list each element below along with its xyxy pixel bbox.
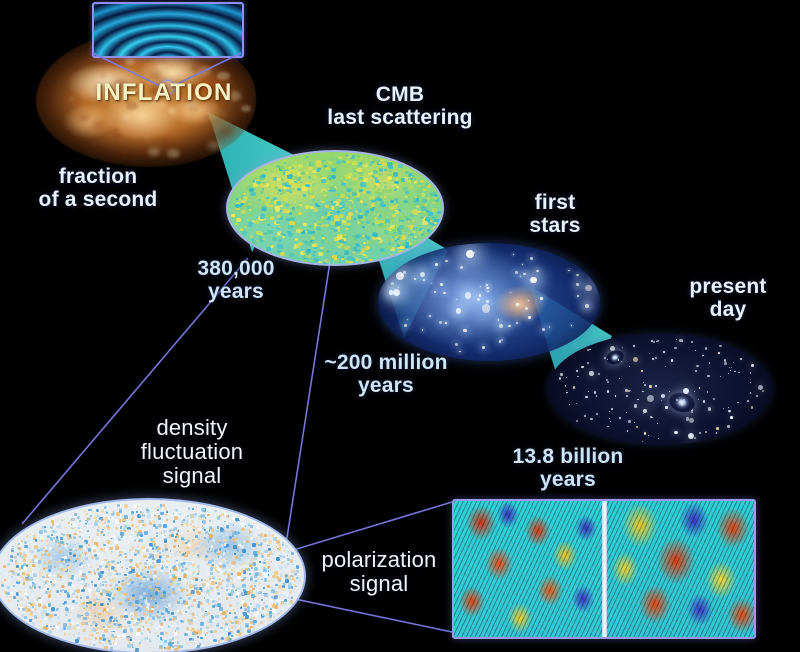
cmb-pixel [61, 533, 63, 535]
galaxy [559, 377, 562, 380]
cmb-pixel [48, 594, 51, 597]
cmb-pixel [39, 586, 41, 588]
cmb-speckle [360, 251, 365, 255]
star [571, 325, 572, 326]
cmb-speckle [333, 162, 336, 165]
cmb-pixel [85, 612, 89, 616]
cmb-pixel [129, 535, 132, 538]
galaxy [707, 375, 710, 378]
cmb-pixel [107, 527, 110, 530]
cmb-pixel [180, 620, 182, 622]
polarization-signal-inset[interactable] [452, 499, 756, 639]
cmb-pixel [130, 561, 132, 563]
cmb-pixel [38, 603, 42, 607]
cmb-speckle [303, 158, 306, 161]
cmb-pixel [105, 548, 108, 551]
cmb-pixel [52, 549, 54, 551]
cmb-pixel [153, 539, 155, 541]
cmb-pixel [244, 608, 247, 611]
cmb-pixel [56, 549, 58, 551]
cmb-pixel [183, 547, 185, 549]
galaxy [643, 409, 647, 413]
star [499, 324, 503, 328]
cmb-pixel [251, 558, 254, 561]
cmb-speckle [379, 214, 381, 216]
cmb-pixel [185, 611, 187, 613]
cmb-pixel [197, 594, 199, 596]
cmb-pixel [46, 617, 48, 619]
galaxy [671, 359, 674, 362]
cmb-speckle [417, 241, 421, 244]
cmb-pixel [32, 533, 34, 535]
cmb-pixel [38, 560, 41, 563]
cmb-pixel [28, 592, 30, 594]
cmb-pixel [110, 647, 113, 650]
cmb-pixel [34, 613, 36, 615]
cmb-pixel [65, 614, 68, 617]
cmb-pixel [175, 536, 177, 538]
cmb-pixel [181, 589, 183, 591]
cmb-pixel [109, 617, 113, 621]
cmb-pixel [89, 551, 93, 555]
cmb-speckle [343, 161, 346, 164]
cmb-speckle [312, 184, 315, 187]
cmb-pixel [156, 563, 160, 567]
galaxy [724, 362, 727, 365]
galaxy [607, 381, 609, 383]
galaxy [699, 432, 701, 434]
star [422, 329, 424, 331]
cosmic-history-diagram: INFLATION CMB last scattering first star… [0, 0, 800, 652]
cmb-speckle [324, 215, 328, 218]
cmb-pixel [185, 519, 189, 523]
cmb-speckle [418, 231, 422, 234]
galaxy [737, 402, 739, 404]
cmb-pixel [177, 601, 180, 604]
cmb-speckle [295, 223, 300, 227]
cmb-speckle [307, 249, 310, 251]
cmb-pixel [224, 521, 226, 523]
cmb-pixel [268, 535, 270, 537]
cmb-pixel [146, 560, 148, 562]
cmb-pixel [159, 628, 161, 630]
cmb-pixel [291, 555, 294, 558]
cmb-speckle [349, 182, 352, 184]
star [465, 292, 471, 298]
cmb-pixel [162, 599, 164, 601]
star [445, 322, 447, 324]
cmb-pixel [187, 530, 189, 532]
cmb-pixel [34, 562, 37, 565]
cmb-pixel [223, 552, 226, 555]
galaxy [665, 406, 668, 409]
cmb-speckle [358, 215, 362, 219]
cmb-pixel [246, 536, 249, 539]
cmb-pixel [17, 600, 19, 602]
cmb-speckle [277, 244, 283, 248]
cmb-pixel [212, 635, 215, 638]
cmb-pixel [100, 534, 102, 536]
cmb-pixel [116, 512, 120, 516]
cmb-speckle [280, 205, 283, 207]
cmb-pixel [248, 529, 250, 531]
cmb-pixel [9, 570, 11, 572]
cmb-pixel [118, 558, 120, 560]
star [513, 254, 514, 255]
cmb-pixel [155, 591, 159, 595]
galaxy [730, 416, 733, 419]
galaxy [633, 357, 638, 362]
cmb-pixel [183, 588, 185, 590]
cmb-pixel [104, 506, 107, 509]
galaxy [576, 420, 578, 422]
galaxy [637, 399, 639, 401]
cmb-pixel [214, 600, 217, 603]
cmb-speckle [429, 230, 434, 234]
cmb-pixel [7, 586, 11, 590]
cmb-speckle [296, 206, 300, 210]
cmb-pixel [96, 587, 100, 591]
cmb-pixel [162, 610, 165, 613]
star [516, 322, 518, 324]
cmb-speckle [331, 258, 334, 260]
cmb-pixel [108, 594, 111, 597]
star [522, 264, 523, 265]
cmb-speckle [346, 197, 349, 199]
cmb-pixel [128, 530, 130, 532]
cmb-speckle [302, 260, 307, 264]
cmb-speckle [345, 228, 348, 231]
cmb-pixel [196, 506, 198, 508]
cmb-pixel [278, 600, 281, 603]
cmb-pixel [166, 568, 168, 570]
cmb-pixel [60, 537, 63, 540]
cmb-speckle [409, 246, 412, 248]
galaxy [707, 391, 709, 393]
cmb-speckle [269, 204, 274, 208]
galaxy [716, 427, 719, 430]
cmb-pixel [182, 602, 184, 604]
star [486, 300, 489, 303]
cmb-pixel [89, 536, 91, 538]
cmb-pixel [124, 615, 128, 619]
cmb-pixel [22, 586, 24, 588]
cmb-pixel [202, 508, 205, 511]
cmb-pixel [95, 557, 99, 561]
cmb-pixel [200, 622, 204, 626]
galaxy [626, 395, 628, 397]
cmb-pixel [125, 559, 128, 562]
cmb-pixel [18, 592, 21, 595]
cmb-speckle [294, 181, 297, 183]
cmb-pixel [114, 586, 118, 590]
cmb-pixel [232, 517, 235, 520]
cmb-speckle [377, 240, 380, 242]
allsky-cmb-map[interactable] [0, 498, 306, 652]
galaxy [634, 404, 638, 408]
cmb-pixel [254, 585, 256, 587]
cmb-pixel [213, 639, 217, 643]
cmb-pixel [170, 570, 172, 572]
cmb-speckle [348, 248, 352, 251]
cmb-pixel [135, 648, 139, 652]
cmb-pixel [242, 562, 245, 565]
cmb-pixel [189, 621, 193, 625]
cmb-pixel [24, 592, 28, 596]
cmb-pixel [207, 639, 209, 641]
cmb-pixel [94, 612, 97, 615]
cmb-pixel [247, 580, 249, 582]
cmb-pixel [253, 620, 256, 623]
cmb-pixel [84, 583, 86, 585]
cmb-speckle [351, 205, 356, 209]
cmb-speckle [248, 222, 254, 227]
cmb-pixel [176, 613, 180, 617]
cmb-speckle [295, 184, 299, 188]
galaxy [576, 403, 577, 404]
cmb-pixel [240, 545, 243, 548]
cmb-pixel [96, 570, 98, 572]
cmb-pixel [124, 530, 126, 532]
cmb-pixel [268, 617, 271, 620]
cmb-pixel [60, 561, 62, 563]
cmb-pixel [134, 553, 138, 557]
cmb-speckle [437, 211, 441, 214]
cmb-pixel [255, 580, 257, 582]
cmb-pixel [154, 599, 156, 601]
star [536, 270, 539, 273]
cmb-pixel [174, 553, 178, 557]
cmb-pixel [55, 539, 58, 542]
cmb-pixel [242, 520, 244, 522]
cmb-pixel [217, 589, 220, 592]
cmb-pixel [220, 613, 223, 616]
cmb-speckle [368, 254, 372, 257]
cmb-pixel [200, 590, 202, 592]
cmb-speckle [351, 253, 355, 256]
cmb-pixel [75, 639, 79, 643]
cmb-pixel [291, 597, 293, 599]
cmb-pixel [187, 606, 189, 608]
cmb-pixel [112, 627, 114, 629]
cmb-pixel [120, 526, 123, 529]
cmb-speckle [305, 206, 309, 209]
cmb-speckle [242, 205, 247, 209]
cmb-pixel [222, 617, 225, 620]
cmb-pixel [69, 570, 71, 572]
cmb-pixel [108, 610, 111, 613]
cmb-pixel [89, 643, 91, 645]
present-day-ellipse[interactable] [548, 333, 772, 445]
cmb-speckle [273, 177, 278, 181]
cmb-speckle [427, 184, 432, 188]
cmb-speckle [270, 216, 275, 220]
galaxy [589, 349, 591, 351]
cmb-pixel [168, 519, 170, 521]
cmb-pixel [29, 536, 32, 539]
cmb-speckle [305, 241, 311, 246]
cmb-pixel [111, 634, 114, 637]
galaxy [634, 422, 635, 423]
cmb-pixel [208, 643, 210, 645]
galaxy [649, 385, 652, 388]
galaxy [698, 399, 699, 400]
cmb-speckle [266, 247, 271, 251]
cmb-pixel [123, 521, 125, 523]
cmb-speckle [295, 238, 298, 241]
cmb-pixel [296, 565, 300, 569]
cmb-pixel [263, 538, 267, 542]
cmb-pixel [193, 571, 196, 574]
galaxy [730, 370, 731, 371]
galaxy [686, 417, 689, 420]
cmb-pixel [274, 595, 278, 599]
cmb-speckle [260, 216, 264, 219]
cmb-pixel [287, 551, 290, 554]
cmb-speckle [361, 260, 365, 263]
cmb-pixel [62, 597, 66, 601]
cmb-speckle [352, 177, 357, 181]
cmb-speckle [337, 211, 339, 213]
cmb-pixel [142, 578, 146, 582]
cmb-pixel [188, 562, 192, 566]
cmb-pixel [197, 573, 199, 575]
star [523, 273, 526, 276]
cmb-pixel [251, 610, 254, 613]
cmb-pixel [31, 590, 34, 593]
cmb-pixel [56, 523, 59, 526]
cmb-pixel [105, 584, 108, 587]
cmb-pixel [157, 515, 160, 518]
cmb-pixel [64, 556, 67, 559]
cmb-pixel [265, 605, 268, 608]
cmb-pixel [201, 579, 202, 580]
galaxy [642, 391, 644, 393]
cmb-pixel [154, 611, 156, 613]
cmb-pixel [61, 519, 63, 521]
cmb-last-scattering-disk[interactable] [226, 150, 444, 266]
cmb-pixel [79, 520, 81, 522]
galaxy [644, 384, 647, 387]
cmb-speckle [362, 226, 364, 228]
cmb-pixel [59, 594, 61, 596]
cmb-pixel [32, 622, 36, 626]
star [540, 297, 543, 300]
galaxy [702, 355, 703, 356]
cmb-speckle [401, 201, 403, 203]
cmb-speckle [247, 219, 249, 221]
cmb-speckle [373, 170, 378, 174]
star [463, 329, 466, 332]
star [530, 277, 537, 284]
cmb-pixel [81, 575, 83, 577]
cmb-pixel [130, 634, 134, 638]
star [439, 321, 442, 324]
cmb-pixel [98, 599, 100, 601]
cmb-pixel [103, 527, 105, 529]
cmb-pixel [155, 632, 157, 634]
cmb-speckle [250, 235, 253, 238]
cmb-pixel [297, 582, 299, 584]
first-stars-ellipse[interactable] [378, 243, 600, 361]
cmb-pixel [149, 567, 152, 570]
cmb-pixel [77, 542, 80, 545]
cmb-speckle [235, 204, 240, 208]
cmb-pixel [118, 573, 120, 575]
cmb-pixel [193, 553, 196, 556]
cmb-pixel [214, 630, 217, 633]
star [420, 272, 425, 277]
cmb-pixel [133, 569, 135, 571]
cmb-pixel [254, 554, 258, 558]
cmb-pixel [135, 600, 139, 604]
cmb-pixel [123, 609, 125, 611]
cmb-pixel [190, 514, 194, 518]
cmb-pixel [153, 575, 157, 579]
cmb-pixel [247, 553, 249, 555]
cmb-pixel [168, 586, 170, 588]
star [480, 286, 481, 287]
cmb-pixel [99, 637, 102, 640]
cmb-pixel [170, 550, 172, 552]
cmb-pixel [7, 599, 11, 603]
cmb-pixel [42, 576, 45, 579]
cmb-pixel [257, 570, 259, 572]
cmb-speckle [362, 191, 366, 194]
cmb-pixel [114, 567, 117, 570]
cmb-pixel [196, 605, 199, 608]
cmb-pixel [48, 630, 52, 634]
cmb-pixel [275, 584, 277, 586]
cmb-pixel [169, 530, 171, 532]
cmb-pixel [108, 533, 109, 534]
cmb-speckle [252, 240, 257, 244]
cmb-pixel [221, 559, 224, 562]
cmb-pixel [274, 611, 276, 613]
galaxy [609, 411, 611, 413]
cmb-pixel [99, 600, 101, 602]
cmb-pixel [150, 595, 152, 597]
cmb-pixel [196, 597, 200, 601]
cmb-pixel [192, 508, 194, 510]
cmb-pixel [156, 532, 158, 534]
cmb-pixel [112, 537, 115, 540]
cmb-pixel [185, 528, 187, 530]
cmb-pixel [262, 613, 265, 616]
cmb-pixel [298, 578, 301, 581]
cmb-pixel [198, 538, 200, 540]
star [434, 291, 436, 293]
cmb-speckle [388, 239, 392, 242]
galaxy [734, 371, 736, 373]
star [549, 326, 551, 328]
cmb-speckle [298, 212, 302, 215]
cmb-pixel [71, 565, 74, 568]
cmb-pixel [150, 647, 152, 649]
galaxy [587, 362, 589, 364]
cmb-pixel [171, 612, 174, 615]
cmb-pixel [80, 562, 83, 565]
cmb-pixel [56, 626, 59, 629]
cmb-pixel [110, 623, 112, 625]
cmb-pixel [107, 603, 109, 605]
cmb-pixel [243, 559, 245, 561]
cmb-pixel [272, 604, 275, 607]
cmb-pixel [67, 636, 71, 640]
cmb-speckle [400, 216, 405, 220]
cmb-pixel [114, 642, 117, 645]
cmb-speckle [380, 159, 384, 162]
